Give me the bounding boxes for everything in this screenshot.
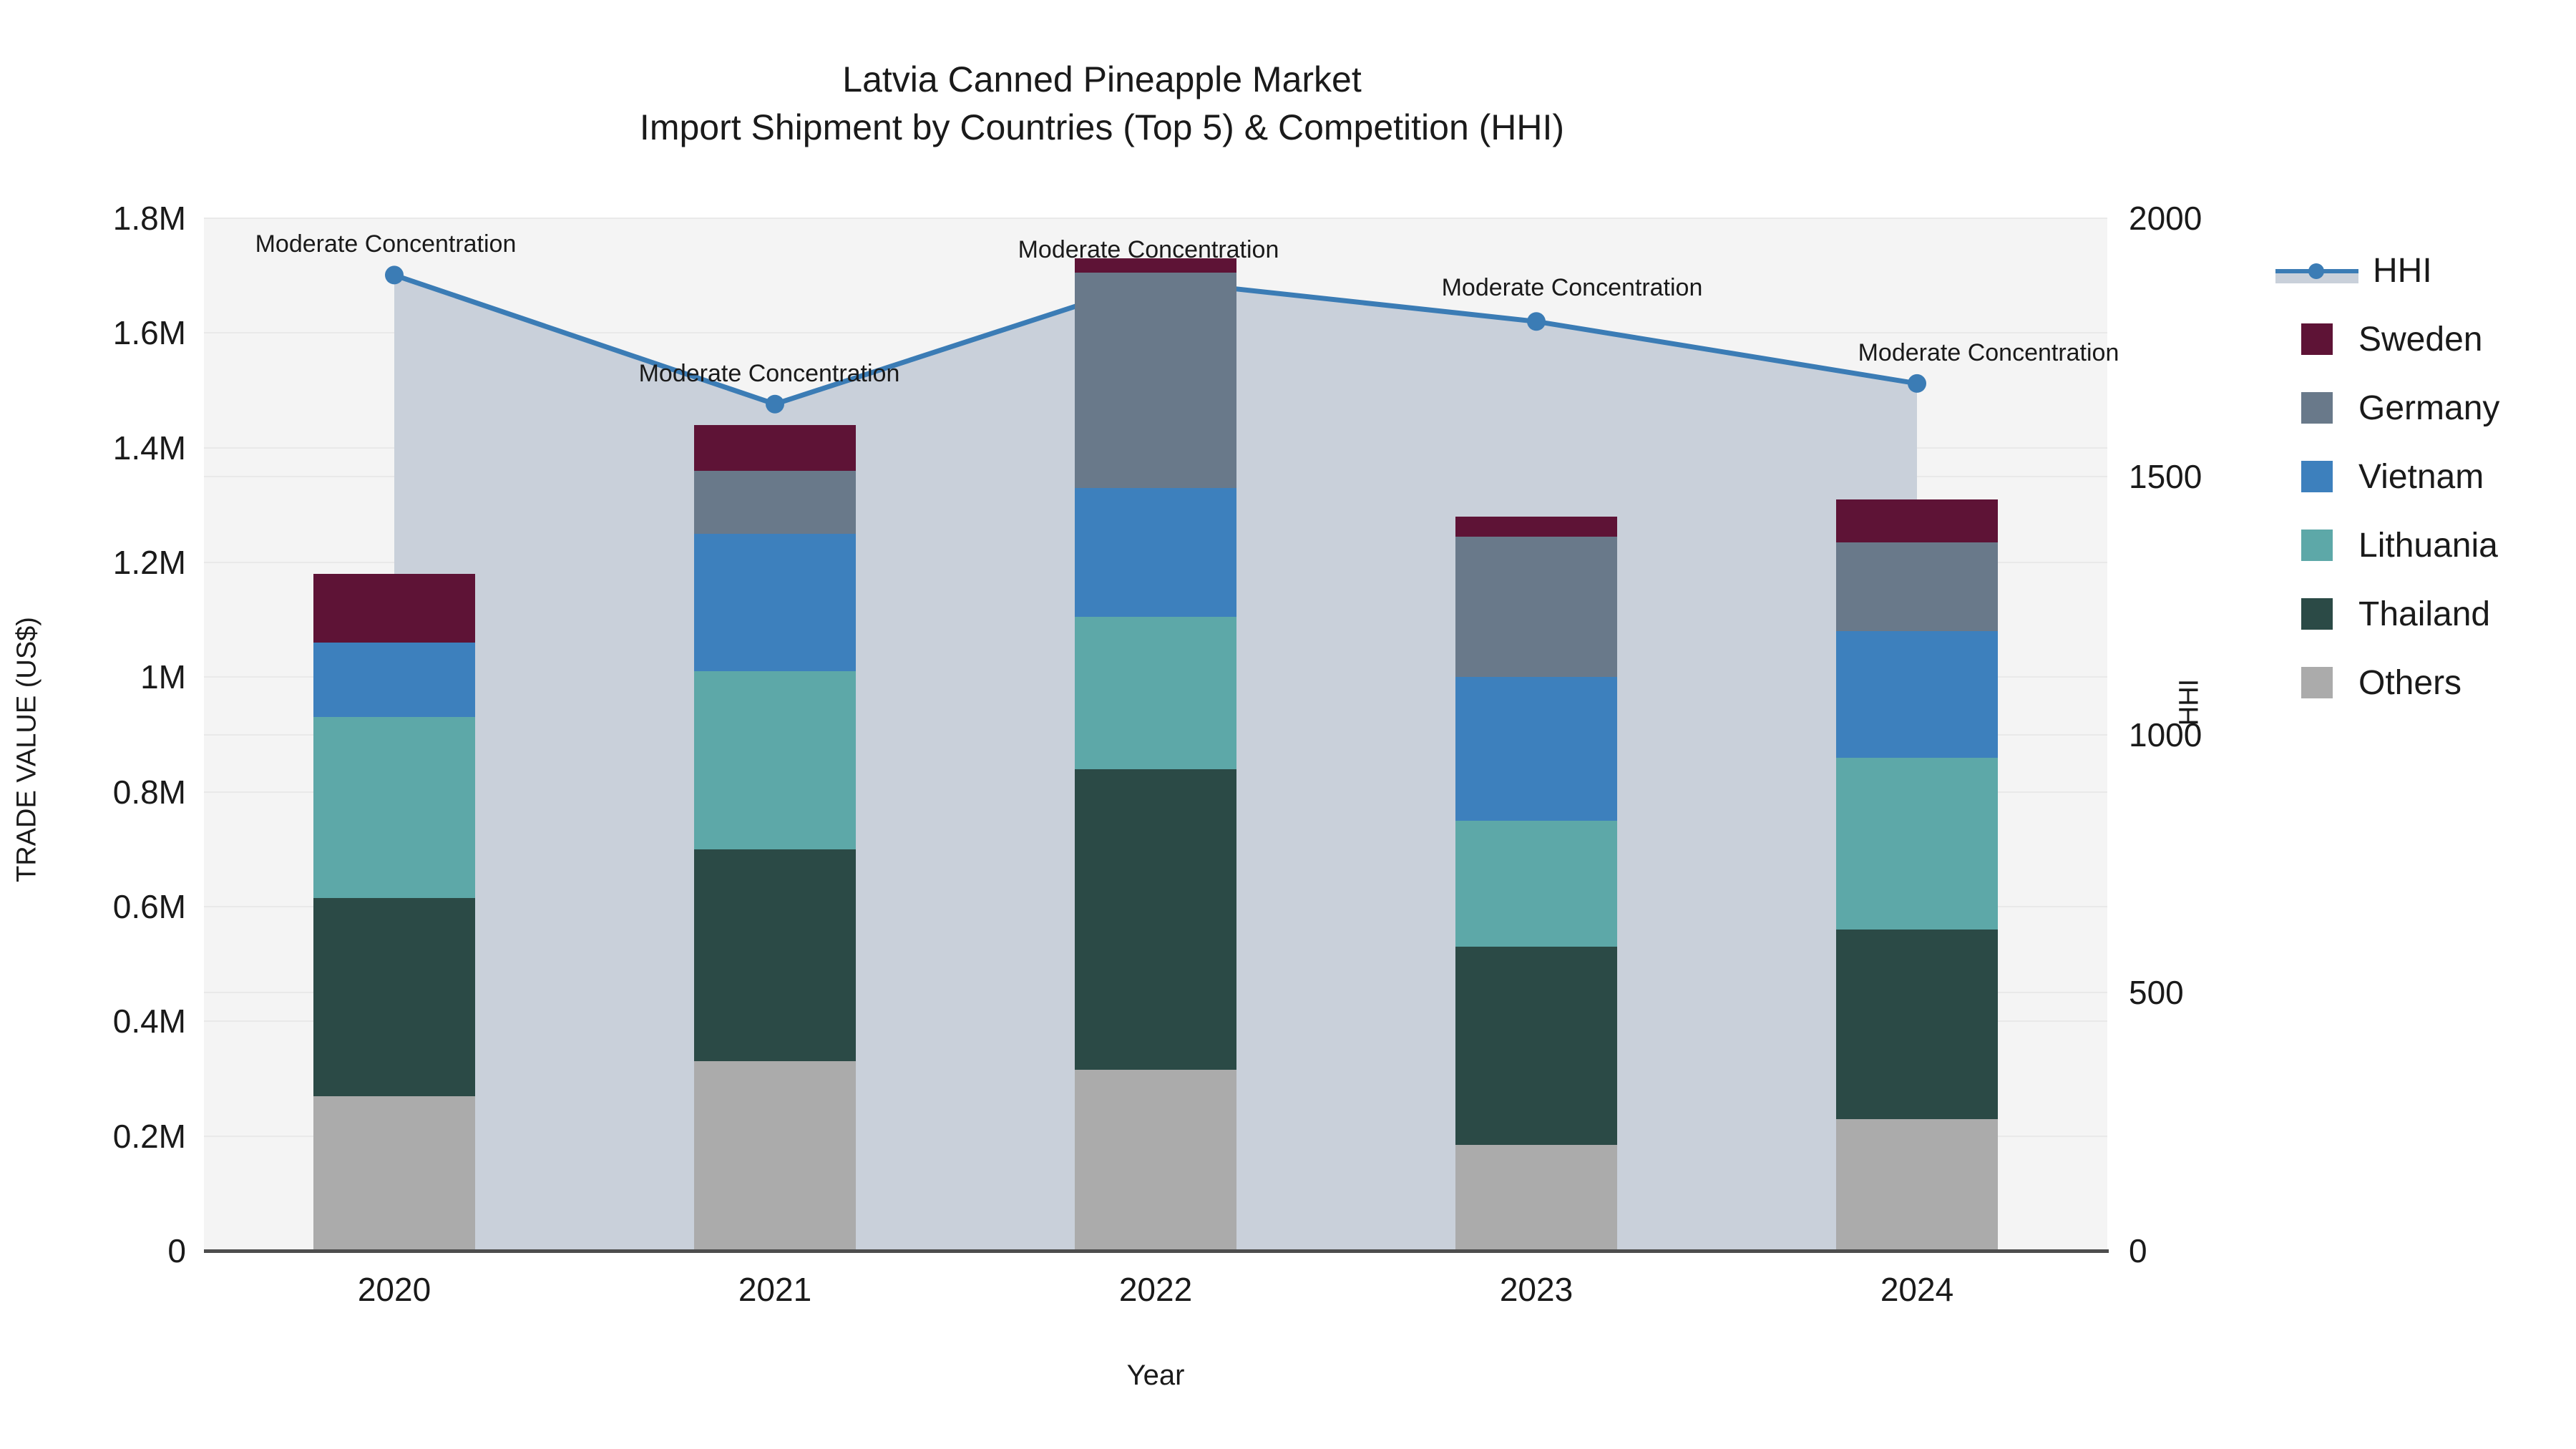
- chart-figure: Latvia Canned Pineapple Market Import Sh…: [0, 0, 2576, 1449]
- hhi-annotation: Moderate Concentration: [1858, 339, 2119, 367]
- bar-segment-thailand[interactable]: [1075, 769, 1236, 1070]
- legend-label: Lithuania: [2358, 526, 2498, 565]
- legend-swatch-icon: [2301, 667, 2333, 698]
- bar-segment-lithuania[interactable]: [1836, 758, 1998, 930]
- legend-item-germany[interactable]: Germany: [2275, 374, 2576, 442]
- y-axis-right-tick: 1500: [2129, 457, 2301, 496]
- legend-line-marker-icon: [2275, 255, 2358, 286]
- legend-label: Vietnam: [2358, 457, 2484, 497]
- hhi-annotation: Moderate Concentration: [639, 360, 900, 388]
- bar-segment-germany[interactable]: [1075, 273, 1236, 488]
- hhi-marker[interactable]: [1527, 312, 1546, 331]
- legend-label: Others: [2358, 663, 2462, 703]
- x-axis-tick-2024: 2024: [1810, 1270, 2024, 1309]
- bar-segment-others[interactable]: [313, 1096, 475, 1251]
- legend-label: Sweden: [2358, 320, 2482, 359]
- legend: HHISwedenGermanyVietnamLithuaniaThailand…: [2275, 236, 2576, 717]
- x-axis-label: Year: [204, 1360, 2107, 1392]
- bar-segment-sweden[interactable]: [694, 425, 856, 471]
- y-axis-left-label: TRADE VALUE (US$): [12, 600, 43, 900]
- bar-segment-sweden[interactable]: [1836, 499, 1998, 542]
- hhi-marker[interactable]: [766, 395, 784, 414]
- bar-segment-vietnam[interactable]: [694, 534, 856, 671]
- hhi-annotation: Moderate Concentration: [1018, 236, 1279, 264]
- legend-item-vietnam[interactable]: Vietnam: [2275, 442, 2576, 511]
- y-axis-right-tick: 0: [2129, 1231, 2301, 1270]
- x-axis-tick-2020: 2020: [287, 1270, 502, 1309]
- y-axis-right-tick: 2000: [2129, 199, 2301, 238]
- bar-segment-germany[interactable]: [1836, 542, 1998, 631]
- bar-segment-lithuania[interactable]: [313, 717, 475, 898]
- bar-segment-sweden[interactable]: [313, 574, 475, 643]
- bar-segment-vietnam[interactable]: [313, 643, 475, 717]
- bar-2023[interactable]: [1455, 517, 1617, 1251]
- x-axis-tick-2023: 2023: [1429, 1270, 1644, 1309]
- y-axis-right-label: HHI: [2175, 631, 2205, 774]
- legend-item-hhi[interactable]: HHI: [2275, 236, 2576, 305]
- bar-segment-others[interactable]: [1455, 1145, 1617, 1251]
- legend-swatch-icon: [2301, 323, 2333, 355]
- bar-segment-lithuania[interactable]: [694, 671, 856, 849]
- chart-title-line-2: Import Shipment by Countries (Top 5) & C…: [0, 104, 2204, 152]
- y-axis-left-tick: 0: [14, 1231, 186, 1270]
- legend-swatch-icon: [2301, 530, 2333, 561]
- bar-segment-vietnam[interactable]: [1075, 488, 1236, 617]
- x-axis-tick-2022: 2022: [1048, 1270, 1263, 1309]
- y-axis-right-tick: 500: [2129, 973, 2301, 1012]
- legend-item-lithuania[interactable]: Lithuania: [2275, 511, 2576, 580]
- legend-swatch-icon: [2301, 392, 2333, 424]
- y-axis-left-tick: 1.2M: [14, 543, 186, 582]
- bar-segment-lithuania[interactable]: [1455, 821, 1617, 947]
- x-axis-line: [204, 1249, 2109, 1253]
- bar-segment-thailand[interactable]: [1836, 930, 1998, 1119]
- hhi-marker[interactable]: [1908, 374, 1926, 393]
- bar-segment-germany[interactable]: [1455, 537, 1617, 677]
- bar-2021[interactable]: [694, 425, 856, 1251]
- chart-title: Latvia Canned Pineapple Market Import Sh…: [0, 56, 2204, 151]
- bar-segment-vietnam[interactable]: [1455, 677, 1617, 820]
- y-axis-left-tick: 0.4M: [14, 1002, 186, 1040]
- bar-2020[interactable]: [313, 574, 475, 1251]
- legend-swatch-icon: [2301, 461, 2333, 492]
- chart-title-line-1: Latvia Canned Pineapple Market: [0, 56, 2204, 104]
- y-axis-left-tick: 1.6M: [14, 313, 186, 352]
- legend-label: HHI: [2373, 251, 2432, 291]
- legend-dot-icon: [2308, 263, 2324, 279]
- hhi-marker[interactable]: [385, 265, 404, 284]
- bar-2024[interactable]: [1836, 499, 1998, 1251]
- legend-item-thailand[interactable]: Thailand: [2275, 580, 2576, 648]
- bar-segment-others[interactable]: [1075, 1070, 1236, 1251]
- legend-swatch-icon: [2301, 598, 2333, 630]
- bar-2022[interactable]: [1075, 258, 1236, 1251]
- y-axis-left-tick: 1.4M: [14, 429, 186, 467]
- bar-segment-germany[interactable]: [694, 471, 856, 534]
- y-axis-left-tick: 0.2M: [14, 1117, 186, 1156]
- legend-item-others[interactable]: Others: [2275, 648, 2576, 717]
- x-axis-tick-2021: 2021: [668, 1270, 882, 1309]
- bar-segment-vietnam[interactable]: [1836, 631, 1998, 757]
- bar-segment-sweden[interactable]: [1455, 517, 1617, 537]
- y-axis-left-tick: 1.8M: [14, 199, 186, 238]
- hhi-annotation: Moderate Concentration: [1442, 274, 1703, 302]
- bar-segment-others[interactable]: [1836, 1119, 1998, 1251]
- bar-segment-thailand[interactable]: [313, 898, 475, 1096]
- bar-segment-thailand[interactable]: [694, 849, 856, 1062]
- y-axis-right-tick: 1000: [2129, 716, 2301, 754]
- bar-segment-lithuania[interactable]: [1075, 617, 1236, 769]
- plot-area: Moderate ConcentrationModerate Concentra…: [204, 218, 2107, 1251]
- legend-item-sweden[interactable]: Sweden: [2275, 305, 2576, 374]
- legend-label: Thailand: [2358, 595, 2490, 634]
- legend-label: Germany: [2358, 389, 2499, 428]
- bar-segment-thailand[interactable]: [1455, 947, 1617, 1145]
- hhi-annotation: Moderate Concentration: [255, 230, 517, 258]
- bar-segment-others[interactable]: [694, 1061, 856, 1251]
